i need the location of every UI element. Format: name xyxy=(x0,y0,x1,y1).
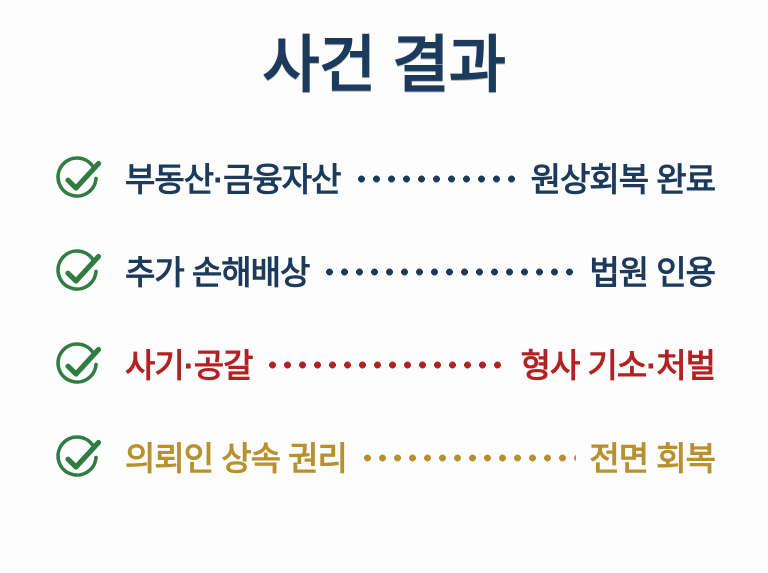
list-item: 의뢰인 상속 권리 전면 회복 xyxy=(0,425,768,491)
result-label: 사기·공갈 xyxy=(125,349,252,382)
check-circle-icon xyxy=(53,340,103,390)
dot-leader xyxy=(354,163,518,196)
page-title: 사건 결과 xyxy=(263,33,506,100)
list-item: 사기·공갈 형사 기소·처벌 xyxy=(0,332,768,398)
dot-leader xyxy=(360,442,577,475)
list-item: 부동산·금융자산 원상회복 완료 xyxy=(0,146,768,212)
result-label: 의뢰인 상속 권리 xyxy=(125,442,347,475)
slide-canvas: 사건 결과 부동산·금융자산 원상회복 완료 추가 손해배상 xyxy=(0,0,768,573)
title-container: 사건 결과 xyxy=(0,33,768,100)
result-label: 부동산·금융자산 xyxy=(125,163,341,196)
result-value: 형사 기소·처벌 xyxy=(521,349,715,382)
result-value: 원상회복 완료 xyxy=(531,163,715,196)
list-item: 추가 손해배상 법원 인용 xyxy=(0,239,768,305)
result-label: 추가 손해배상 xyxy=(125,256,309,289)
dot-leader xyxy=(265,349,507,382)
dot-leader xyxy=(322,256,576,289)
check-circle-icon xyxy=(53,433,103,483)
result-list: 부동산·금융자산 원상회복 완료 추가 손해배상 법원 인용 xyxy=(0,146,768,491)
check-circle-icon xyxy=(53,154,103,204)
check-circle-icon xyxy=(53,247,103,297)
result-value: 법원 인용 xyxy=(589,256,715,289)
result-value: 전면 회복 xyxy=(589,442,715,475)
